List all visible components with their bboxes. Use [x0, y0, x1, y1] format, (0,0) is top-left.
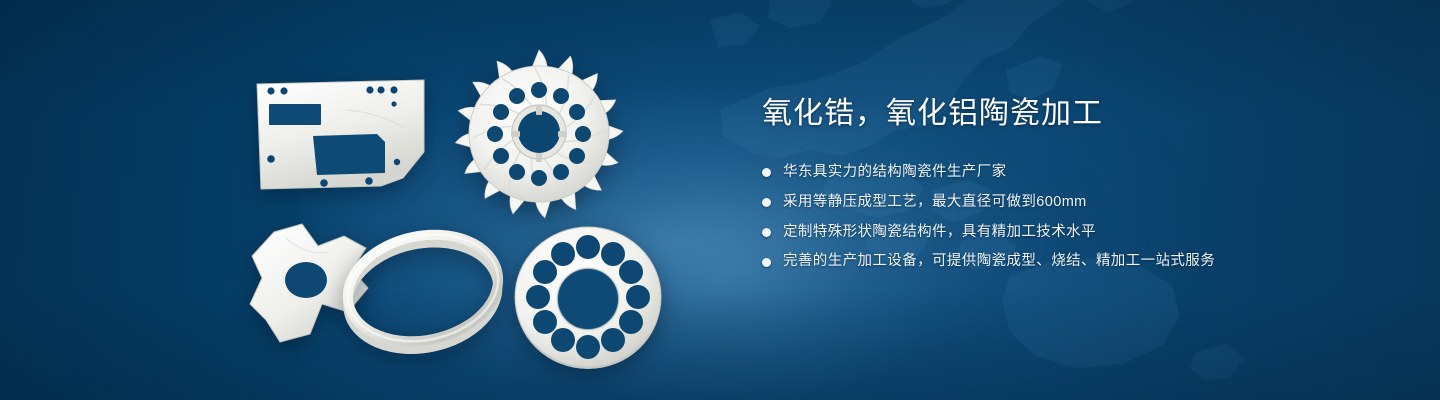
list-item: 采用等静压成型工艺，最大直径可做到600mm [762, 192, 1382, 214]
ceramic-plate-with-cutouts [253, 78, 428, 193]
bullet-dot-icon [762, 258, 771, 267]
feature-text: 采用等静压成型工艺，最大直径可做到600mm [783, 192, 1087, 214]
bullet-dot-icon [762, 198, 771, 207]
ceramic-perforated-disc [512, 222, 664, 372]
feature-list: 华东具实力的结构陶瓷件生产厂家 采用等静压成型工艺，最大直径可做到600mm 定… [762, 162, 1382, 273]
list-item: 定制特殊形状陶瓷结构件，具有精加工技术水平 [762, 222, 1382, 244]
bullet-dot-icon [762, 228, 771, 237]
list-item: 华东具实力的结构陶瓷件生产厂家 [762, 162, 1382, 184]
hero-banner: 氧化锆，氧化铝陶瓷加工 华东具实力的结构陶瓷件生产厂家 采用等静压成型工艺，最大… [0, 0, 1440, 400]
feature-text: 定制特殊形状陶瓷结构件，具有精加工技术水平 [783, 222, 1096, 244]
product-artwork [0, 0, 760, 400]
page-title: 氧化锆，氧化铝陶瓷加工 [762, 96, 1382, 132]
feature-text: 完善的生产加工设备，可提供陶瓷成型、烧结、精加工一站式服务 [783, 251, 1215, 273]
list-item: 完善的生产加工设备，可提供陶瓷成型、烧结、精加工一站式服务 [762, 251, 1382, 273]
feature-text: 华东具实力的结构陶瓷件生产厂家 [783, 162, 1007, 184]
banner-text-block: 氧化锆，氧化铝陶瓷加工 华东具实力的结构陶瓷件生产厂家 采用等静压成型工艺，最大… [762, 96, 1382, 273]
bullet-dot-icon [762, 168, 771, 177]
ceramic-thin-ring [335, 222, 510, 357]
ceramic-impeller-vaned-disc [448, 48, 630, 226]
